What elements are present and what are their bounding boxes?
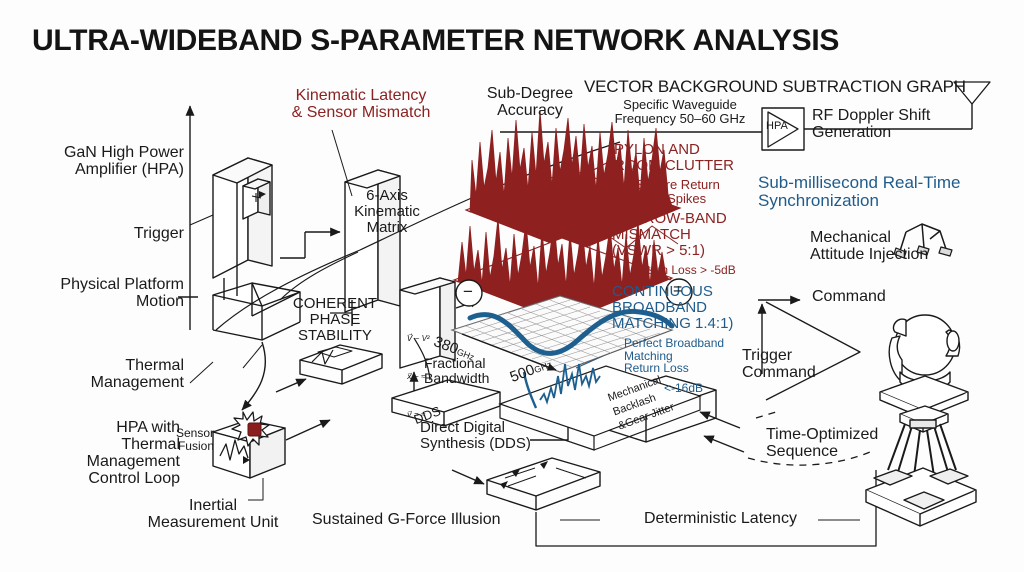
label-deterministic-latency: Deterministic Latency bbox=[644, 511, 797, 528]
label-physical-platform-motion: Physical Platform Motion bbox=[24, 277, 184, 311]
label-sustained-g-force: Sustained G-Force Illusion bbox=[312, 512, 552, 529]
label-kinematic-latency: Kinematic Latency & Sensor Mismatch bbox=[272, 88, 450, 122]
label-pylon-room-clutter: PYLON AND ROOM CLUTTER bbox=[614, 142, 734, 174]
label-graph-title: VECTOR BACKGROUND SUBTRACTION GRAPH bbox=[584, 78, 966, 96]
label-thermal-management: Thermal Management bbox=[36, 358, 184, 392]
label-sub-degree-accuracy: Sub-Degree Accuracy bbox=[468, 86, 592, 120]
label-sensor-fusion: Sensor Fusion bbox=[156, 427, 214, 452]
label-command: Command bbox=[812, 289, 886, 306]
label-dds: Direct Digital Synthesis (DDS) bbox=[420, 420, 546, 452]
label-sub-millisecond-sync: Sub-millisecond Real-Time Synchronizatio… bbox=[758, 174, 961, 210]
operator-minus: − bbox=[463, 283, 473, 301]
label-rf-doppler-shift: RF Doppler Shift Generation bbox=[812, 108, 930, 142]
diagram-canvas: ULTRA-WIDEBAND S-PARAMETER NETWORK ANALY… bbox=[0, 0, 1024, 572]
label-inertial-measurement-unit: Inertial Measurement Unit bbox=[118, 498, 308, 532]
label-fractional-bandwidth: Fractional Bandwidth bbox=[424, 356, 489, 386]
label-trigger-command: Trigger Command bbox=[742, 348, 816, 382]
label-continuous-sub2: <-16dB bbox=[664, 382, 703, 395]
label-pylon-sub: Severe Return Loss Spikes bbox=[636, 178, 720, 206]
label-continuous-sub: Perfect Broadband Matching Return Loss bbox=[624, 337, 724, 375]
label-mechanical-attitude-injection: Mechanical Attitude Injection bbox=[810, 230, 928, 264]
label-hpa-symbol: HPA bbox=[766, 121, 788, 133]
operator-equals: = bbox=[673, 282, 682, 299]
label-trigger: Trigger bbox=[36, 226, 184, 243]
label-coherent-phase-stability: COHERENT PHASE STABILITY bbox=[288, 296, 382, 344]
label-kinematic-matrix: 6-Axis Kinematic Matrix bbox=[346, 188, 428, 236]
matrix-row-0: V⃗ − V² bbox=[407, 333, 430, 346]
label-narrowband-mismatch: NARROW-BAND MISMATCH (VSWR > 5:1) bbox=[612, 211, 727, 259]
label-time-optimized-sequence: Time-Optimized Sequence bbox=[766, 427, 878, 461]
label-gan-amplifier: GaN High Power Amplifier (HPA) bbox=[36, 145, 184, 179]
label-specific-waveguide: Specific Waveguide Frequency 50–60 GHz bbox=[604, 98, 756, 126]
matrix-row-2: v⃗ = ≈ bbox=[407, 409, 430, 422]
label-narrowband-sub: Return Loss > -5dB bbox=[632, 264, 736, 277]
